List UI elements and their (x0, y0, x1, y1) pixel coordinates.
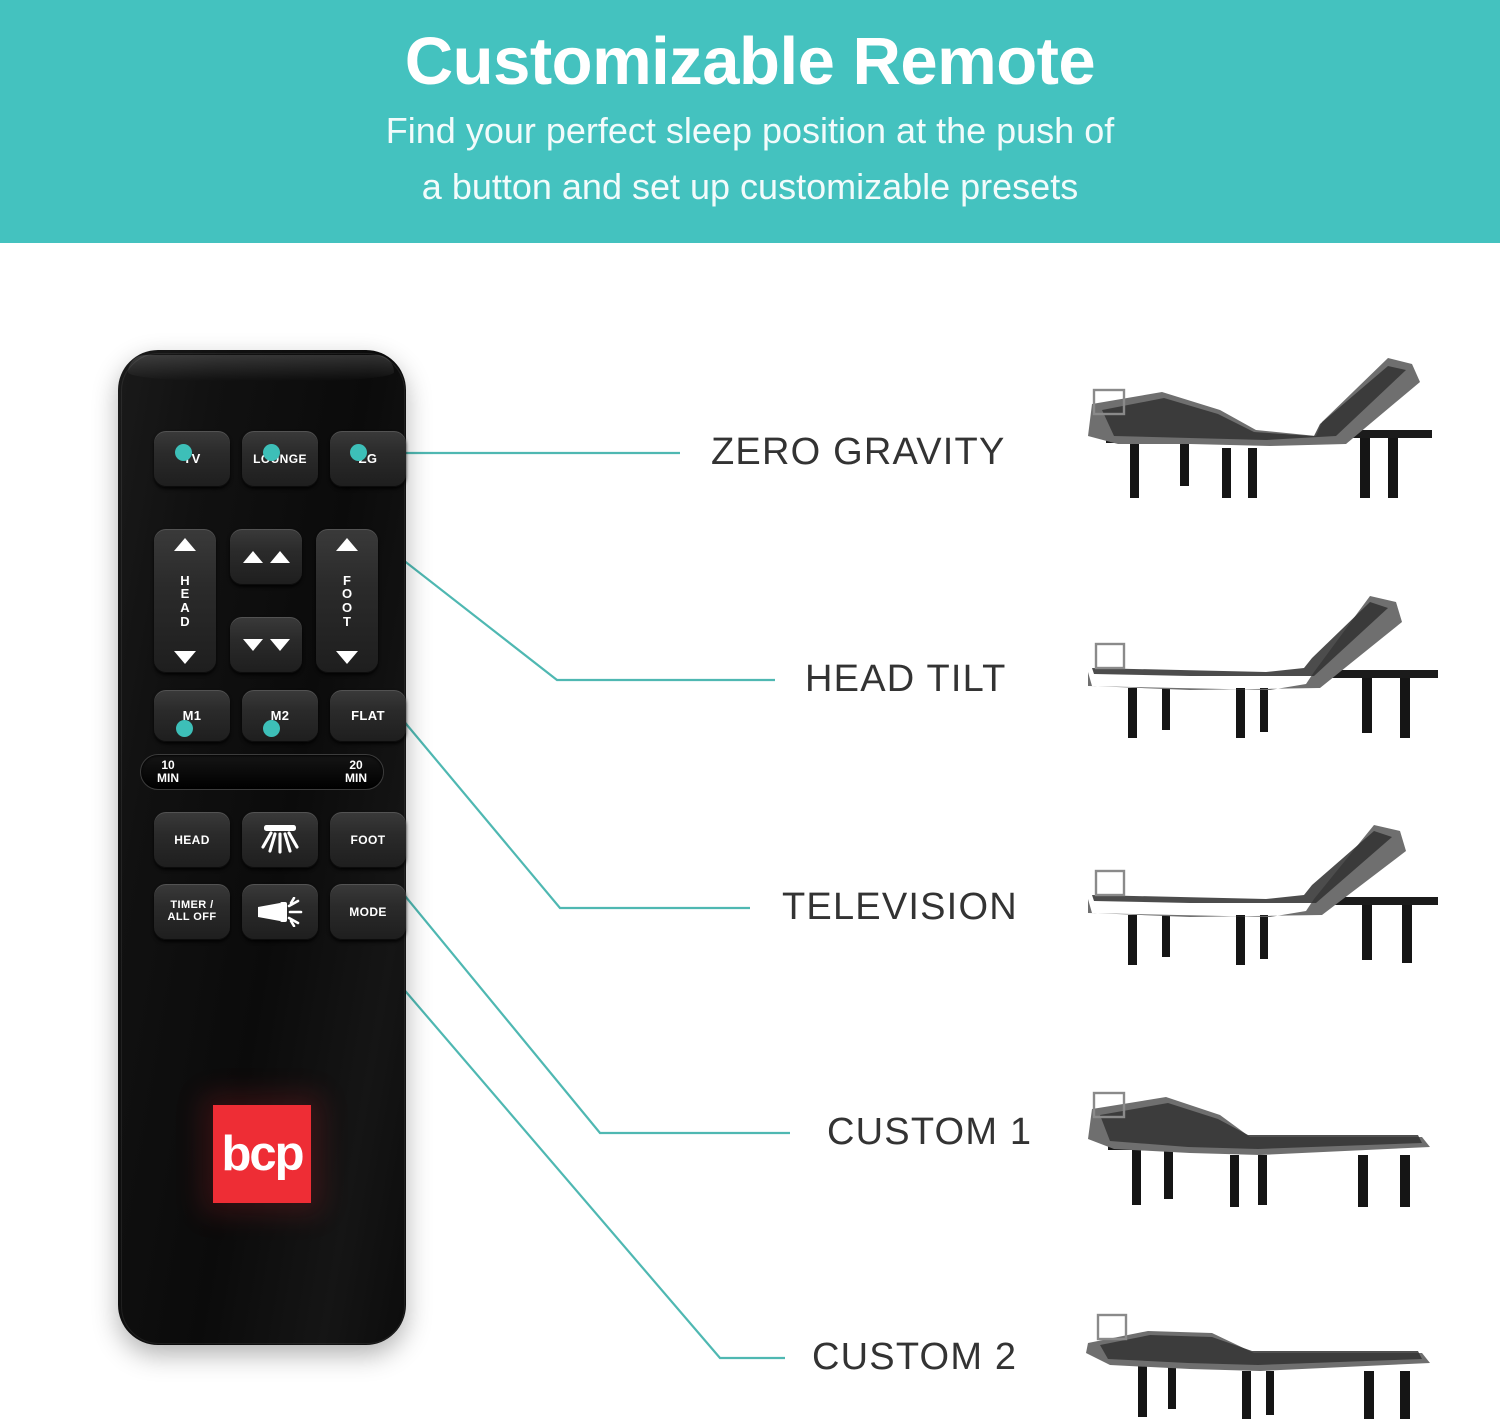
button-mode[interactable]: MODE (330, 884, 406, 940)
double-up-arrow-icon (243, 551, 290, 563)
head-letter-h: H (180, 574, 189, 588)
bcp-logo: bcp (213, 1105, 311, 1203)
timer-20-min[interactable]: 20 MIN (345, 759, 367, 784)
bed-headrest-bracket-television (1096, 871, 1124, 895)
bed-image-zero-gravity (1070, 348, 1490, 498)
button-lounge[interactable]: LOUNGE (242, 431, 318, 487)
bed-frame-rail-head-tilt (1328, 670, 1438, 678)
timer-10-unit: MIN (157, 772, 179, 785)
bed-surface-custom-1 (1100, 1103, 1422, 1149)
bed-legs-television (1128, 905, 1412, 965)
bed-image-custom-2 (1070, 1291, 1490, 1421)
button-m2[interactable]: M2 (242, 690, 318, 742)
bed-legs-custom-1 (1132, 1147, 1410, 1207)
callout-label-head-tilt: HEAD TILT (805, 658, 1007, 701)
callout-label-zero-gravity: ZERO GRAVITY (711, 431, 1006, 474)
callout-dot-m2[interactable] (263, 720, 280, 737)
head-up-arrow-icon (174, 538, 196, 551)
bed-image-head-tilt (1070, 588, 1490, 738)
button-foot-adjust-label: F O O T (342, 574, 352, 629)
foot-letter-o1: O (342, 587, 352, 601)
button-zg[interactable]: ZG (330, 431, 406, 487)
bed-image-custom-1 (1070, 1061, 1490, 1211)
bed-headrest-bracket-head-tilt (1096, 644, 1124, 668)
remote-control: TV LOUNGE ZG H E A D (118, 350, 406, 1345)
foot-letter-t: T (343, 615, 351, 629)
bed-headrest-bracket-custom-2 (1098, 1315, 1126, 1339)
page-subtitle-line-2: a button and set up customizable presets (0, 154, 1500, 210)
header-banner: Customizable Remote Find your perfect sl… (0, 0, 1500, 243)
callout-label-television: TELEVISION (782, 886, 1018, 929)
button-tv[interactable]: TV (154, 431, 230, 487)
button-flat-label: FLAT (351, 709, 385, 723)
button-lounge-label: LOUNGE (253, 453, 307, 466)
double-down-arrow-icon (243, 639, 290, 651)
button-head-massage[interactable]: HEAD (154, 812, 230, 868)
button-m1[interactable]: M1 (154, 690, 230, 742)
foot-letter-o2: O (342, 601, 352, 615)
head-letter-e: E (181, 587, 190, 601)
head-down-arrow-icon (174, 651, 196, 664)
page-subtitle-line-1: Find your perfect sleep position at the … (0, 98, 1500, 154)
button-head-massage-label: HEAD (174, 834, 210, 847)
flashlight-icon (255, 897, 305, 927)
content-stage: TV LOUNGE ZG H E A D (0, 243, 1500, 1421)
bed-image-television (1070, 811, 1490, 966)
button-massage[interactable] (242, 812, 318, 868)
button-timer-all-off-label: TIMER / ALL OFF (167, 900, 216, 923)
button-flat[interactable]: FLAT (330, 690, 406, 742)
callout-dot-m1[interactable] (176, 720, 193, 737)
foot-up-arrow-icon (336, 538, 358, 551)
foot-down-arrow-icon (336, 651, 358, 664)
head-letter-a: A (180, 601, 189, 615)
remote-keypad: TV LOUNGE ZG H E A D (118, 350, 406, 1345)
button-both-up[interactable] (230, 529, 302, 585)
callout-dot-lounge[interactable] (263, 444, 280, 461)
timer-all-off-line-1: TIMER / (170, 899, 213, 911)
callout-label-custom-2: CUSTOM 2 (812, 1336, 1017, 1379)
button-foot-massage[interactable]: FOOT (330, 812, 406, 868)
callout-dot-tv[interactable] (175, 444, 192, 461)
bed-frame-rail-television (1328, 897, 1438, 905)
button-foot-adjust[interactable]: F O O T (316, 529, 378, 673)
button-head-adjust-label: H E A D (180, 574, 189, 629)
button-timer-all-off[interactable]: TIMER / ALL OFF (154, 884, 230, 940)
timer-10-min[interactable]: 10 MIN (157, 759, 179, 784)
massage-icon (257, 822, 303, 858)
foot-letter-f: F (343, 574, 351, 588)
button-head-adjust[interactable]: H E A D (154, 529, 216, 673)
callout-label-custom-1: CUSTOM 1 (827, 1111, 1032, 1154)
bed-legs-custom-2 (1138, 1365, 1410, 1419)
timer-bar[interactable]: 10 MIN 20 MIN (140, 754, 384, 790)
button-foot-massage-label: FOOT (351, 834, 386, 847)
bcp-logo-text: bcp (221, 1130, 302, 1179)
button-both-down[interactable] (230, 617, 302, 673)
callout-dot-zg[interactable] (350, 444, 367, 461)
head-letter-d: D (180, 615, 189, 629)
timer-20-unit: MIN (345, 772, 367, 785)
bed-legs-head-tilt (1128, 678, 1410, 738)
timer-all-off-line-2: ALL OFF (167, 911, 216, 923)
button-flashlight[interactable] (242, 884, 318, 940)
bed-surface-custom-2 (1100, 1335, 1422, 1365)
page-title: Customizable Remote (0, 0, 1500, 98)
button-mode-label: MODE (349, 906, 387, 919)
